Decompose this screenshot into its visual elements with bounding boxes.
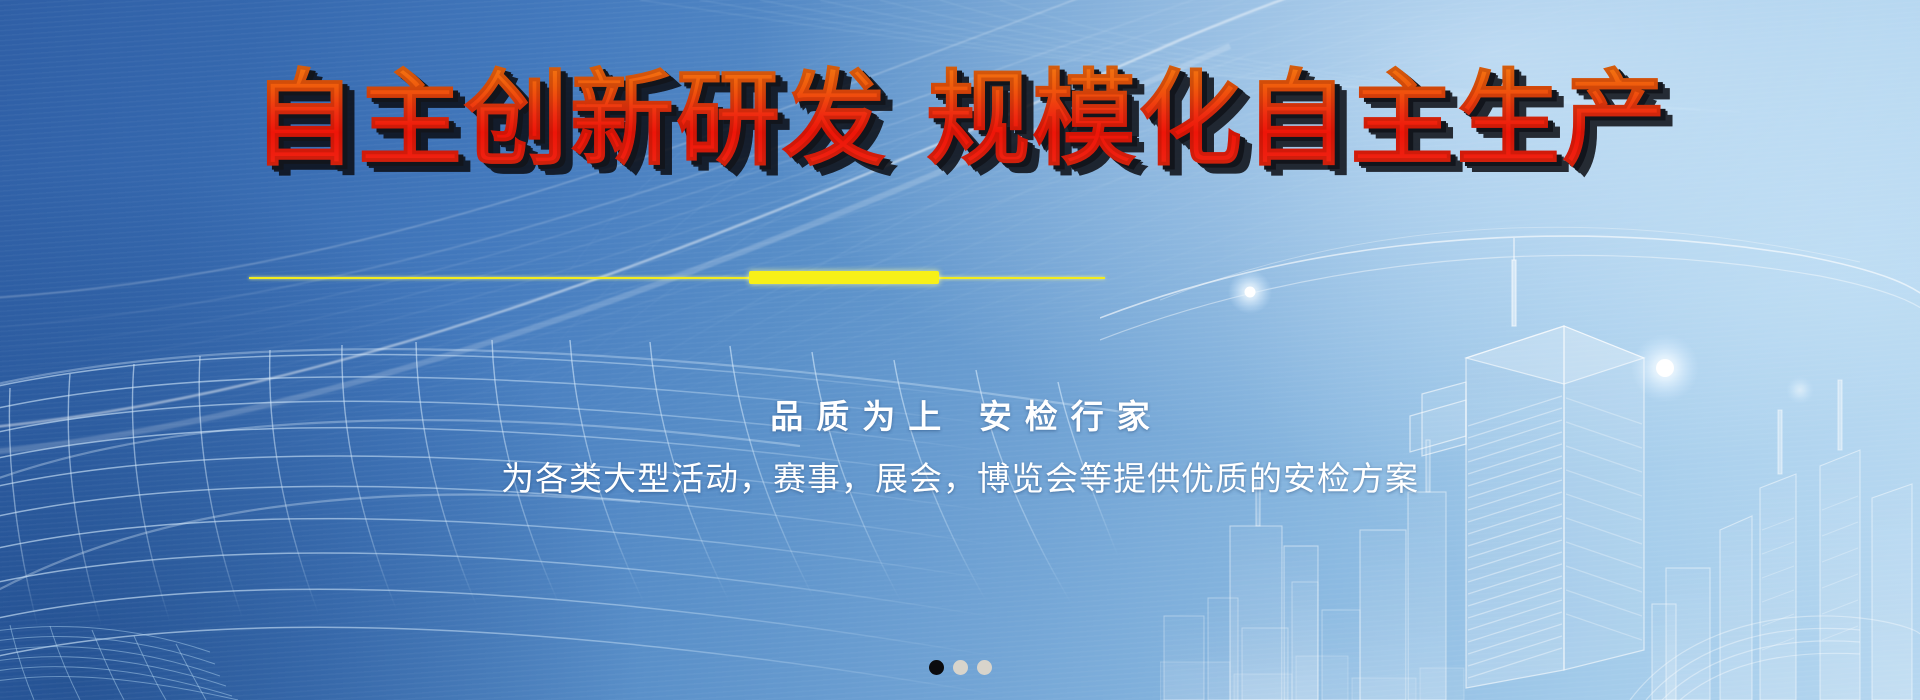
carousel-dots[interactable]: [0, 660, 1920, 675]
banner-content: 自主创新研发 规模化自主生产 品质为上 安检行家 为各类大型活动，赛事，展会，博…: [0, 0, 1920, 700]
banner-slogan: 品质为上 安检行家: [0, 390, 1920, 438]
carousel-dot-2[interactable]: [953, 660, 968, 675]
carousel-dot-3[interactable]: [977, 660, 992, 675]
hero-banner: 自主创新研发 规模化自主生产 品质为上 安检行家 为各类大型活动，赛事，展会，博…: [0, 0, 1920, 700]
carousel-dot-1[interactable]: [929, 660, 944, 675]
headline-wrapper: 自主创新研发 规模化自主生产: [0, 62, 1920, 176]
banner-tagline: 为各类大型活动，赛事，展会，博览会等提供优质的安检方案: [0, 452, 1920, 500]
banner-headline: 自主创新研发 规模化自主生产: [252, 62, 1668, 176]
divider-accent-bar: [749, 271, 939, 284]
divider-hairline: [249, 277, 1105, 279]
yellow-divider: [249, 270, 1105, 286]
